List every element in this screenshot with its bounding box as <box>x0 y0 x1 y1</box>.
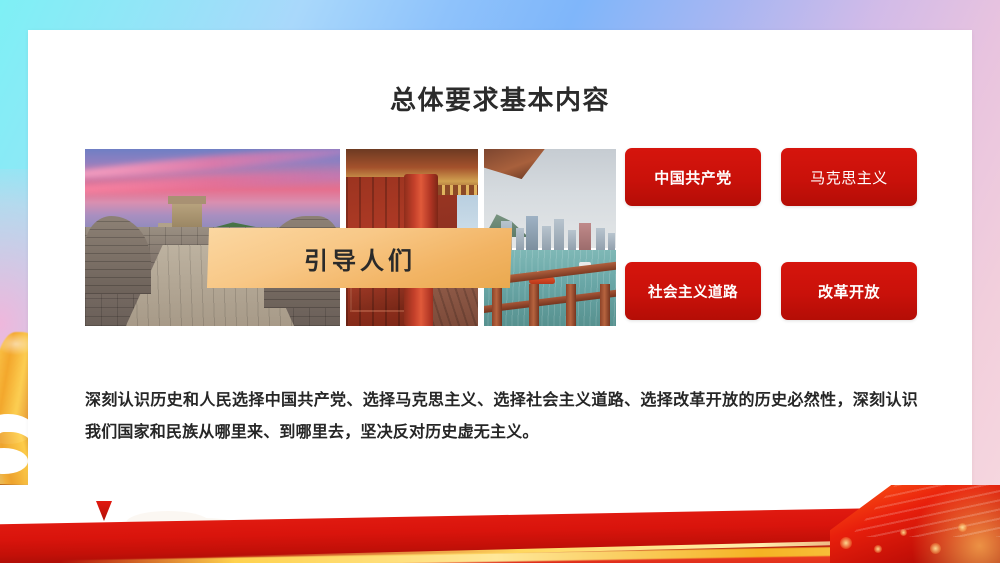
railing-post <box>529 284 539 326</box>
railing-post <box>492 284 502 326</box>
railing-post <box>600 284 610 326</box>
gold-banner: 引导人们 <box>207 228 512 288</box>
body-paragraph: 深刻认识历史和人民选择中国共产党、选择马克思主义、选择社会主义道路、选择改革开放… <box>85 385 918 449</box>
slide-card: 总体要求基本内容 <box>28 30 972 503</box>
keyword-box-socialist-road[interactable]: 社会主义道路 <box>625 262 761 320</box>
bottom-ribbon-decoration <box>0 485 1000 563</box>
ribbon-bokeh-dots <box>830 515 990 559</box>
keyword-box-marxism[interactable]: 马克思主义 <box>781 148 917 206</box>
railing-post <box>566 284 576 326</box>
keyword-box-reform-opening[interactable]: 改革开放 <box>781 262 917 320</box>
gold-banner-label: 引导人们 <box>304 241 416 276</box>
keyword-box-communist-party[interactable]: 中国共产党 <box>625 148 761 206</box>
railing-bottom-bar <box>484 289 616 313</box>
keyword-grid: 中国共产党 马克思主义 社会主义道路 改革开放 <box>625 148 917 328</box>
page-title: 总体要求基本内容 <box>28 80 972 117</box>
